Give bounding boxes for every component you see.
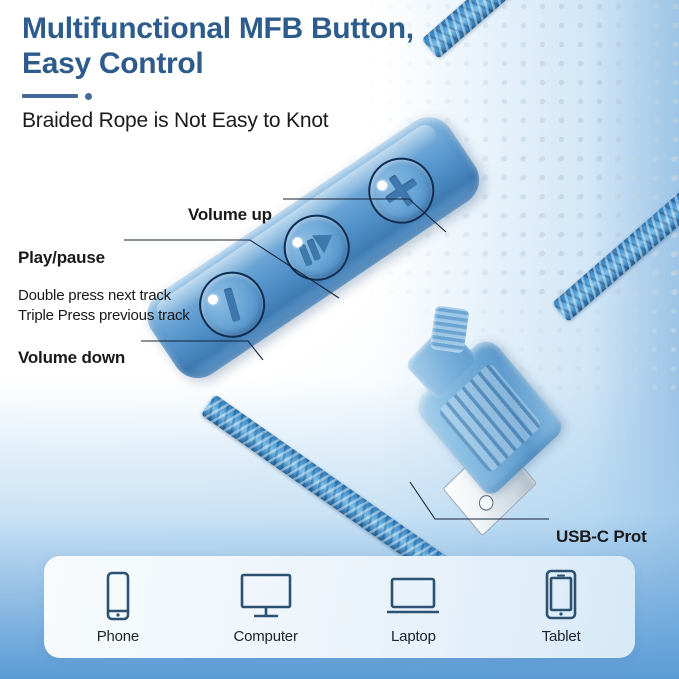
phone-icon [101,569,135,621]
device-label-laptop: Laptop [391,628,436,645]
usb-c-collar [430,305,470,353]
monitor-icon [238,569,294,621]
callout-play-pause-label: Play/pause [18,247,190,268]
product-infographic: Multifunctional MFB Button, Easy Control… [0,0,679,679]
callout-volume-down: Volume down [18,329,125,386]
device-item-computer: Computer [192,569,340,645]
device-item-tablet: Tablet [487,569,635,645]
device-label-phone: Phone [97,628,139,645]
usb-c-tip-hole [476,492,496,514]
callout-volume-up-label: Volume up [188,204,272,225]
device-label-computer: Computer [233,628,297,645]
page-title: Multifunctional MFB Button, Easy Control [22,12,542,82]
tablet-icon [541,569,581,621]
compatible-devices-panel: Phone Computer Laptop [44,556,635,658]
device-item-laptop: Laptop [340,569,488,645]
device-item-phone: Phone [44,569,192,645]
callout-play-pause: Play/pause Double press next track Tripl… [18,229,190,343]
callout-volume-down-label: Volume down [18,347,125,368]
laptop-icon [384,569,442,621]
device-label-tablet: Tablet [542,628,581,645]
callout-play-pause-detail: Double press next track Triple Press pre… [18,286,190,325]
divider-dot [85,93,92,100]
divider-bar [22,94,78,98]
callout-volume-up: Volume up [188,186,272,243]
callout-usb-c-label: USB-C Prot [556,526,647,547]
